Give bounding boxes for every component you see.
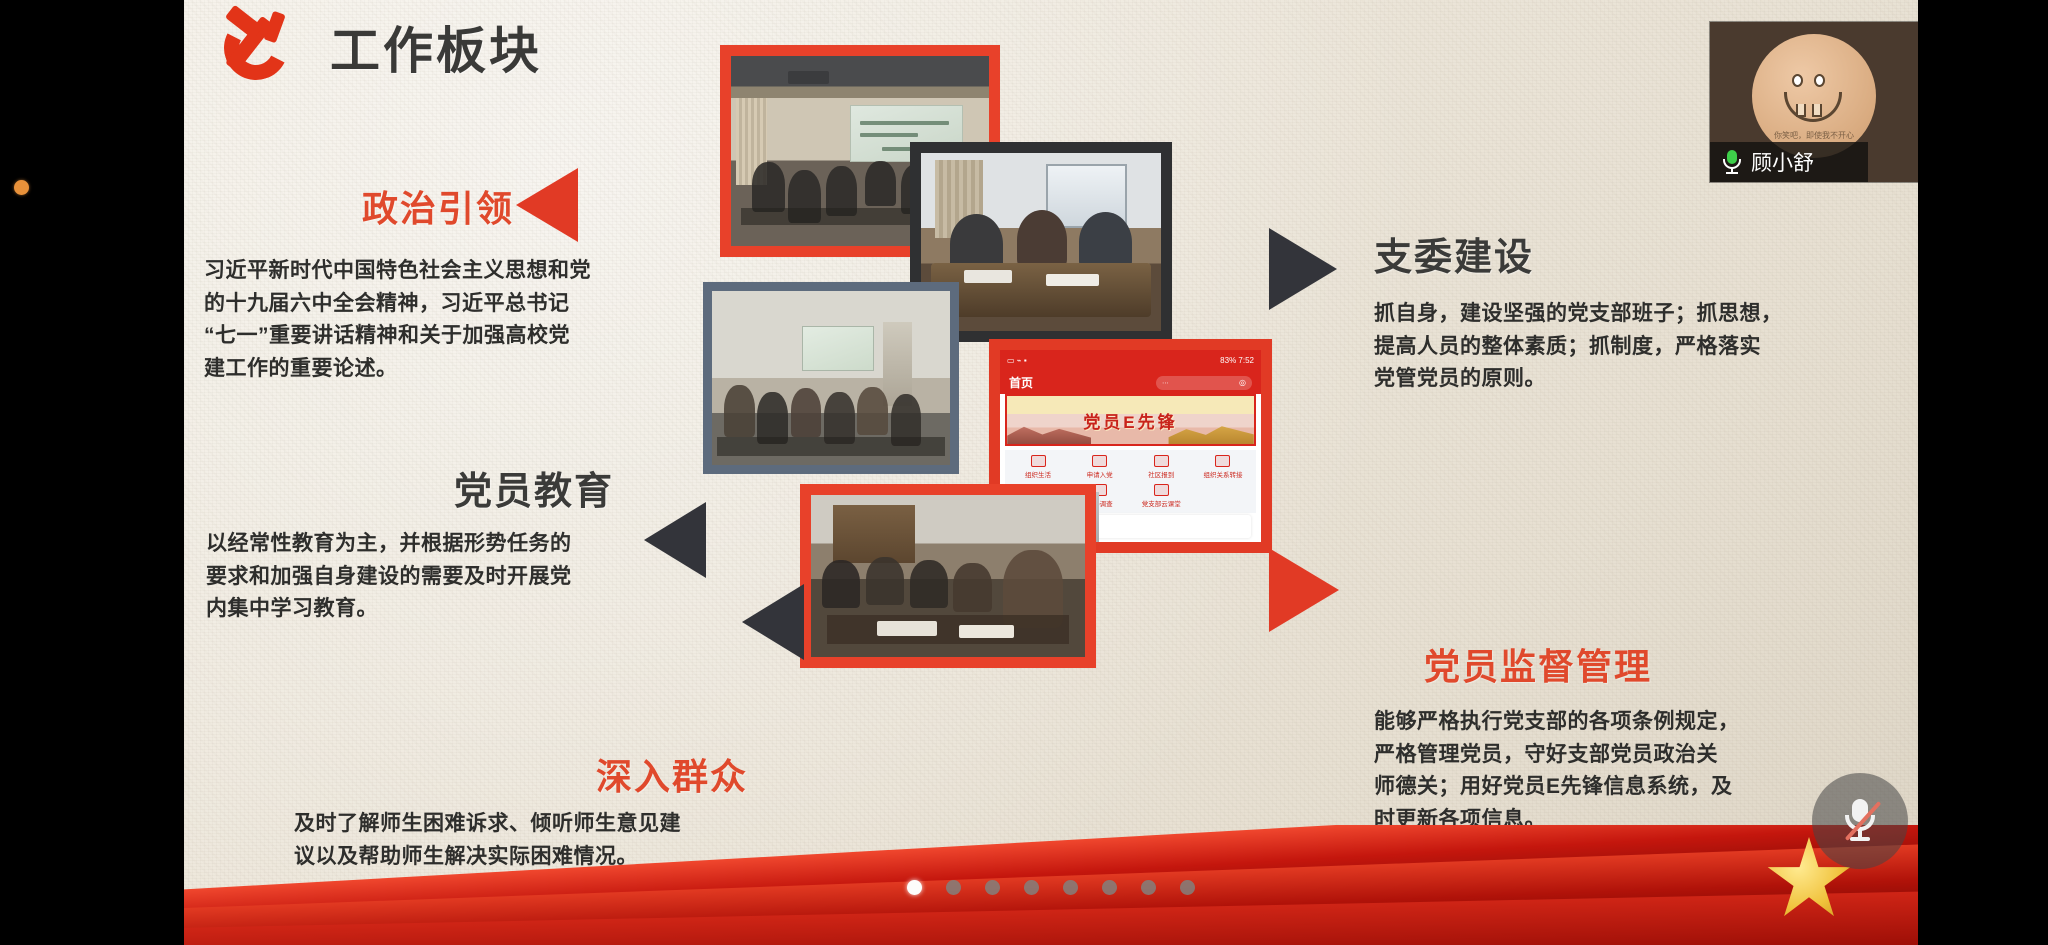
pagination-dot[interactable] [946,880,961,895]
app-menu-item[interactable]: 社区报到 [1130,455,1192,484]
photo-member-education [703,282,959,474]
app-hero-banner: 党员E先锋 [1005,394,1256,446]
app-search-pill[interactable]: ⋯ ◎ [1156,376,1252,390]
app-banner-title: 党员E先锋 [1083,408,1177,433]
pagination-dot[interactable] [1102,880,1117,895]
section-body-education: 以经常性教育为主，并根据形势任务的 要求和加强自身建设的需要及时开展党 内集中学… [206,528,666,626]
chevron-left-icon-masses [742,584,804,660]
slide-header: 工作板块 [212,8,542,86]
apply-membership-icon [1092,455,1107,467]
section-heading-political: 政治引领 [362,180,514,232]
participant-name: 顾小舒 [1751,147,1814,177]
app-menu-item[interactable]: 组织关系转接 [1192,455,1254,484]
battery-level: 83% [1220,356,1236,365]
section-body-supervision: 能够严格执行党支部的各项条例规定， 严格管理党员，守好支部党员政治关 师德关；用… [1374,706,1862,836]
microphone-muted-icon [1843,799,1877,843]
avatar-scribble-text: 你笑吧，即使我不开心 [1774,130,1854,141]
slide-pagination[interactable] [907,880,1195,895]
section-heading-branch: 支委建设 [1374,226,1534,281]
microphone-on-icon [1722,150,1742,174]
pagination-dot[interactable] [1180,880,1195,895]
section-heading-education: 党员教育 [454,460,614,515]
chevron-left-icon-political [516,168,578,242]
letterbox-left [0,0,184,945]
photo-masses-meeting [800,484,1096,668]
page-title: 工作板块 [330,11,542,83]
app-menu-item[interactable]: 党支部云课堂 [1130,484,1192,513]
section-heading-supervision: 党员监督管理 [1424,638,1652,690]
search-icon: ⋯ [1162,379,1169,387]
chevron-right-icon-branch [1269,228,1337,310]
participant-name-bar: 顾小舒 [1710,142,1868,182]
phone-app-navbar: 首页 ⋯ ◎ [1000,371,1261,394]
participant-video-tile[interactable]: 你笑吧，即使我不开心 顾小舒 [1710,22,1918,182]
party-emblem-icon [212,8,308,86]
scan-icon: ◎ [1239,378,1246,387]
pagination-dot[interactable] [1063,880,1078,895]
transfer-relations-icon [1215,455,1230,467]
avatar: 你笑吧，即使我不开心 [1752,34,1876,158]
app-menu-item[interactable]: 组织生活 [1007,455,1069,484]
clock: 7:52 [1238,356,1254,365]
chevron-right-icon-supervision [1269,548,1339,632]
mute-toggle-button[interactable] [1812,773,1908,869]
letterbox-right [1918,0,2048,945]
pagination-dot[interactable] [1141,880,1156,895]
pagination-dot[interactable] [985,880,1000,895]
app-menu-item[interactable]: 申请入党 [1069,455,1131,484]
pagination-dot[interactable] [907,880,922,895]
status-left-icons: ▭ ⌁ ▪ [1007,356,1027,365]
cloud-classroom-icon [1154,484,1169,496]
pagination-dot[interactable] [1024,880,1039,895]
section-body-branch: 抓自身，建设坚强的党支部班子；抓思想， 提高人员的整体素质；抓制度，严格落实 党… [1374,298,1852,396]
status-indicator-dot [14,180,29,195]
organization-life-icon [1031,455,1046,467]
shared-slide: 工作板块 [184,0,1918,945]
section-body-political: 习近平新时代中国特色社会主义思想和党 的十九届六中全会精神，习近平总书记 “七一… [204,255,674,385]
community-checkin-icon [1154,455,1169,467]
app-nav-title: 首页 [1009,374,1033,391]
section-heading-masses: 深入群众 [596,748,748,800]
phone-status-bar: ▭ ⌁ ▪ 83% 7:52 [1000,350,1261,371]
video-meeting-screen: 工作板块 [0,0,2048,945]
